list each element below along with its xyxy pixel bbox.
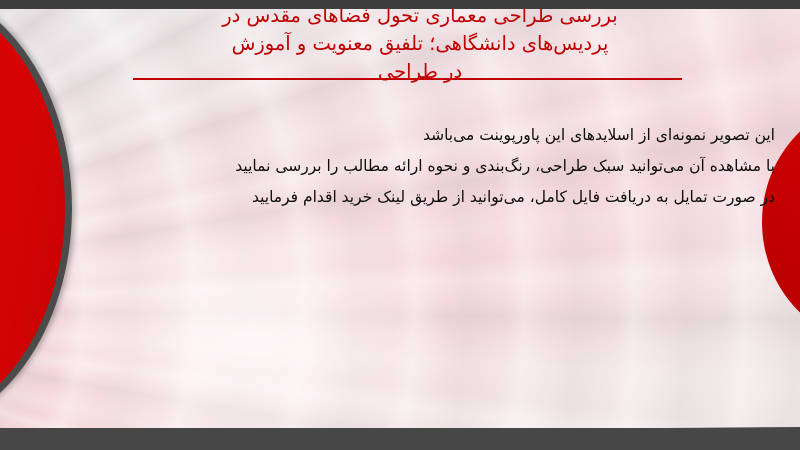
bottom-frame-bar	[0, 428, 800, 450]
red-ellipse-fill	[0, 0, 72, 432]
presentation-slide: بررسی طراحی معماری تحول فضاهای مقدس در پ…	[0, 0, 800, 450]
background-highlight-glow	[40, 189, 460, 433]
body-line-3: در صورت تمایل به دریافت فایل کامل، می‌تو…	[60, 182, 775, 213]
title-line-2: پردیس‌های دانشگاهی؛ تلفیق معنویت و آموزش	[120, 30, 720, 58]
slide-body-text: این تصویر نمونه‌ای از اسلایدهای این پاور…	[60, 120, 775, 213]
red-ellipse-shape	[0, 0, 72, 432]
body-line-1: این تصویر نمونه‌ای از اسلایدهای این پاور…	[60, 120, 775, 151]
top-frame-bar	[0, 0, 800, 9]
slide-title: بررسی طراحی معماری تحول فضاهای مقدس در پ…	[120, 2, 720, 86]
title-divider-rule	[133, 78, 682, 80]
body-line-2: با مشاهده آن می‌توانید سبک طراحی، رنگ‌بن…	[60, 151, 775, 182]
title-line-3: در طراحی	[120, 58, 720, 86]
